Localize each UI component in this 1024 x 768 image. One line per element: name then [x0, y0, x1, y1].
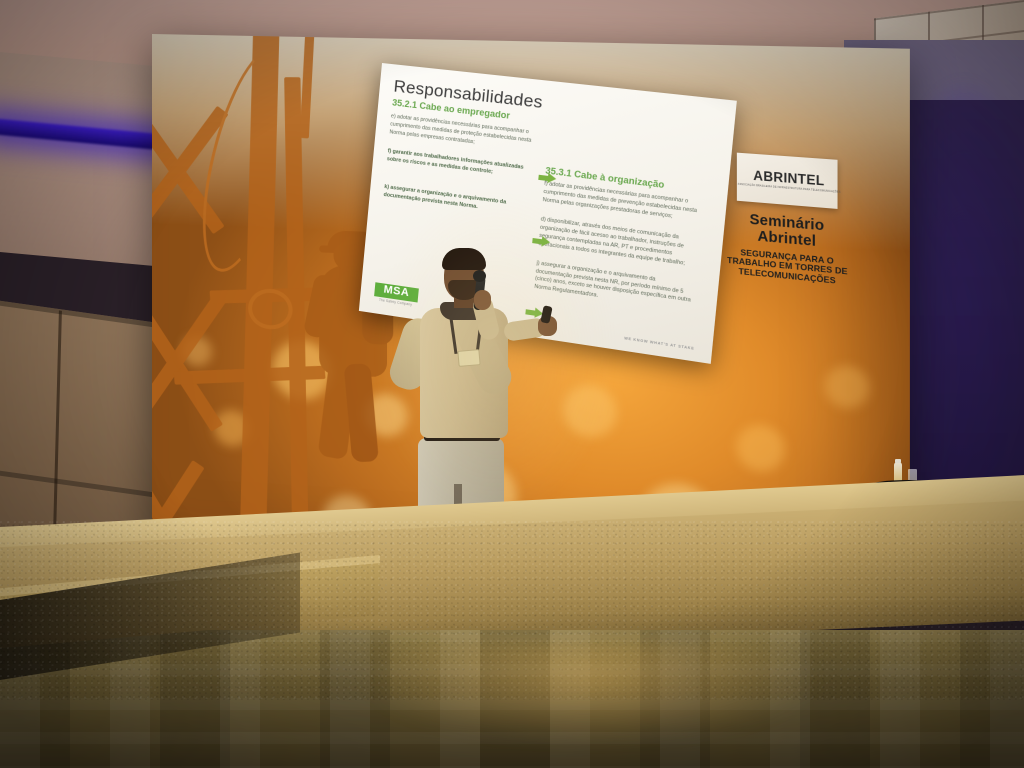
conference-stage-photo: Responsabilidades 35.2.1 Cabe ao emprega…	[0, 0, 1024, 768]
speaker-hair	[442, 248, 486, 270]
slide-bullet: f) garantir aos trabalhadores informaçõe…	[386, 148, 537, 182]
slide-bullet: k) assegurar a organização e o arquivame…	[383, 184, 534, 219]
tower-antenna-mast	[300, 34, 316, 139]
bokeh-dot	[825, 365, 870, 410]
microphone-head	[473, 270, 486, 282]
abrintel-banner: ABRINTEL ASSOCIAÇÃO BRASILEIRA DE INFRAE…	[728, 152, 847, 343]
event-subtitle: SEGURANÇA PARA O TRABALHO EM TORRES DE T…	[728, 247, 847, 288]
climber-leg	[344, 363, 379, 462]
bokeh-dot	[736, 424, 784, 473]
hard-hat-brim	[319, 245, 350, 253]
abrintel-logo: ABRINTEL ASSOCIAÇÃO BRASILEIRA DE INFRAE…	[737, 153, 838, 209]
floor-light-pool	[280, 640, 900, 768]
speaker-right-hand	[474, 290, 491, 310]
conference-badge	[457, 349, 480, 367]
bottle-cap	[895, 459, 901, 463]
green-arrow-icon	[538, 172, 557, 185]
slide-footer-tagline: WE KNOW WHAT'S AT STAKE	[624, 336, 695, 351]
